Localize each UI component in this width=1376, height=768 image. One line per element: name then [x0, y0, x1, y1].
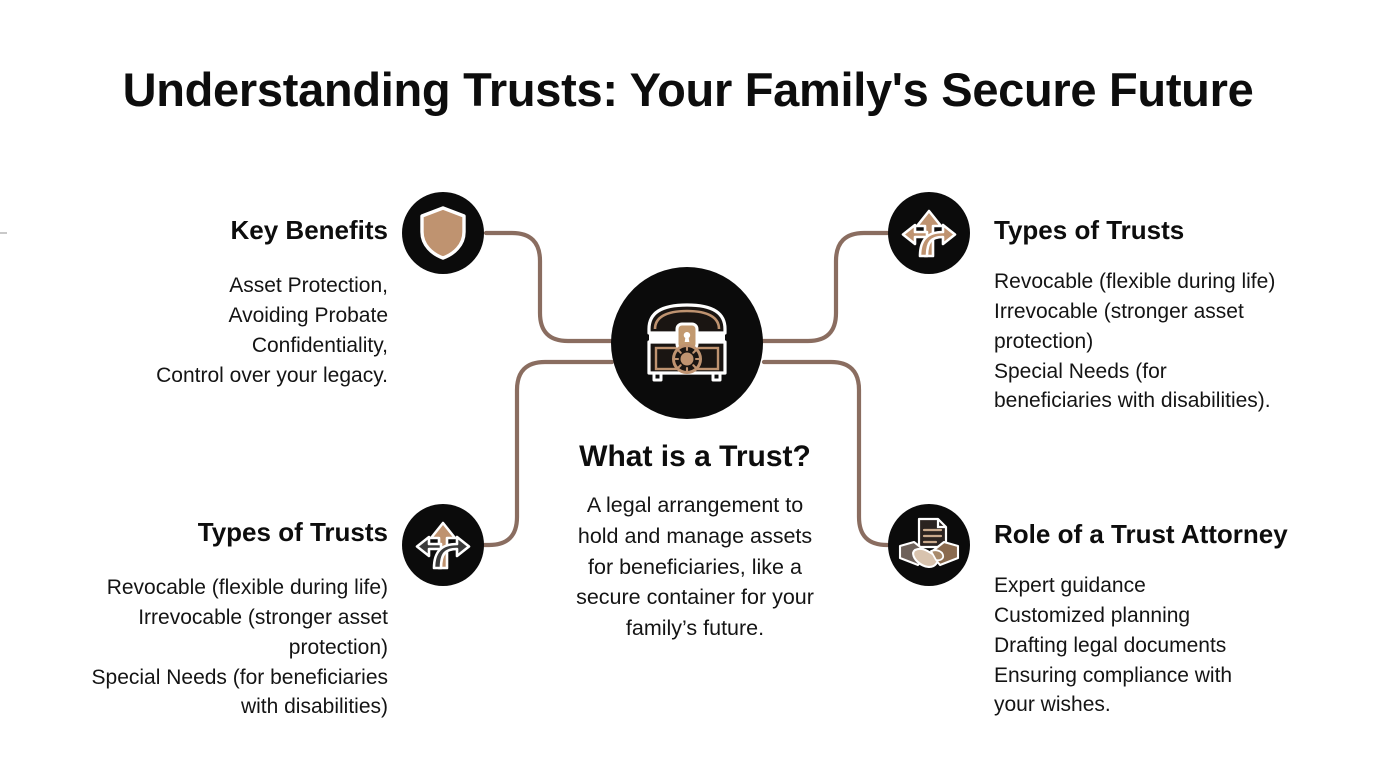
- center-trust-node[interactable]: [611, 267, 763, 419]
- key-benefits-body: Asset Protection, Avoiding Probate Confi…: [88, 271, 388, 390]
- shield-icon: [418, 206, 468, 260]
- key-benefits-node[interactable]: [402, 192, 484, 274]
- types-of-trusts-top-block: Types of Trusts Revocable (flexible duri…: [994, 216, 1344, 416]
- types-of-trusts-bottom-block: Types of Trusts Revocable (flexible duri…: [20, 518, 388, 722]
- what-is-a-trust-body: A legal arrangement to hold and manage a…: [540, 490, 850, 645]
- role-of-trust-attorney-block: Role of a Trust Attorney Expert guidance…: [994, 520, 1346, 720]
- types-of-trusts-bottom-body: Revocable (flexible during life) Irrevoc…: [20, 573, 388, 722]
- role-of-trust-attorney-heading: Role of a Trust Attorney: [994, 520, 1346, 549]
- three-way-arrows-icon: [415, 518, 471, 572]
- connector-topright: [762, 233, 890, 341]
- types-of-trusts-bottom-heading: Types of Trusts: [20, 518, 388, 547]
- types-of-trusts-bottom-node[interactable]: [402, 504, 484, 586]
- infographic-canvas: Understanding Trusts: Your Family's Secu…: [0, 0, 1376, 768]
- edge-artifact: [0, 232, 7, 234]
- connector-topleft: [486, 233, 614, 341]
- types-of-trusts-top-heading: Types of Trusts: [994, 216, 1344, 245]
- treasure-chest-icon: [641, 299, 733, 387]
- page-title: Understanding Trusts: Your Family's Secu…: [0, 62, 1376, 117]
- what-is-a-trust-block: What is a Trust? A legal arrangement to …: [540, 440, 850, 644]
- handshake-document-icon: [898, 517, 960, 573]
- role-of-trust-attorney-node[interactable]: [888, 504, 970, 586]
- types-of-trusts-top-body: Revocable (flexible during life) Irrevoc…: [994, 267, 1344, 416]
- types-of-trusts-top-node[interactable]: [888, 192, 970, 274]
- three-way-arrows-icon: [901, 206, 957, 260]
- role-of-trust-attorney-body: Expert guidance Customized planning Draf…: [994, 571, 1346, 720]
- key-benefits-block: Key Benefits Asset Protection, Avoiding …: [88, 216, 388, 390]
- key-benefits-heading: Key Benefits: [88, 216, 388, 245]
- what-is-a-trust-heading: What is a Trust?: [540, 440, 850, 474]
